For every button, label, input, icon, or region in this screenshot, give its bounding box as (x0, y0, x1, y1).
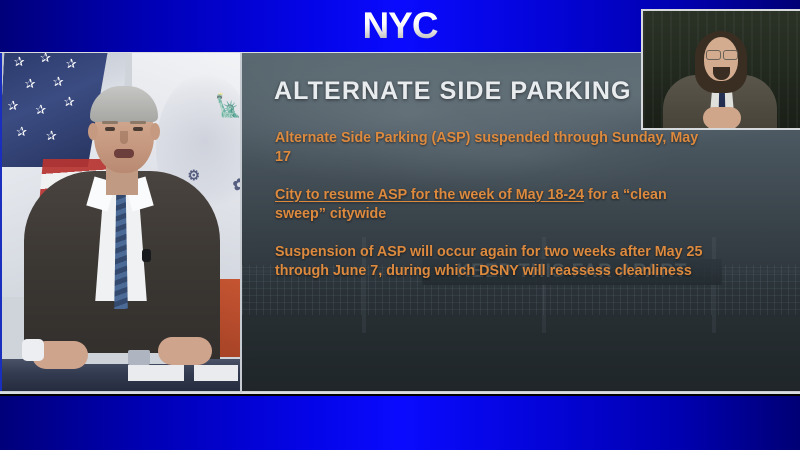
seal-eagle-icon: 🗽 (215, 93, 240, 119)
flag-star-icon: ✰ (52, 75, 64, 88)
speaker-ear-left (88, 123, 98, 140)
seal-windmill-icon: ⚙ (187, 167, 200, 184)
slide-bullet-3: Suspension of ASP will occur again for t… (275, 243, 707, 281)
bottom-banner-hairline (0, 392, 800, 394)
interpreter-hands (703, 107, 741, 129)
speaker-eye-left (105, 127, 115, 131)
lapel-microphone-icon (142, 249, 151, 262)
sign-language-interpreter-pip (641, 9, 800, 130)
flag-star-icon: ✰ (40, 53, 52, 64)
speaker-brow-right (130, 121, 146, 124)
podium-video-panel: ✰ ✰ ✰ ✰ ✰ ✰ ✰ ✰ ✰ ✰ 🗽 ⚙ ✿ (2, 53, 240, 393)
desk-paper (128, 365, 184, 381)
slide-bullet-1: Alternate Side Parking (ASP) suspended t… (275, 129, 707, 167)
flag-star-icon: ✰ (16, 125, 28, 138)
flag-star-icon: ✰ (46, 129, 58, 142)
seal-laurel-icon: ✿ (233, 175, 240, 195)
desk-paper (194, 365, 238, 381)
desk-binder-clip (128, 350, 150, 365)
speaker-brow-left (102, 121, 118, 124)
slide-bullet-2: City to resume ASP for the week of May 1… (275, 186, 707, 224)
flag-star-icon: ✰ (35, 103, 47, 116)
slide-bullet-2-underlined: City to resume ASP for the week of May 1… (275, 187, 584, 203)
interpreter-glasses-left (706, 50, 721, 60)
flag-star-icon: ✰ (7, 99, 19, 112)
flag-star-icon: ✰ (24, 77, 36, 90)
bottom-banner (0, 396, 800, 450)
speaker-nose (120, 131, 128, 144)
speaker-eye-right (133, 127, 143, 131)
speaker-mouth (114, 149, 134, 158)
flag-star-icon: ✰ (13, 55, 25, 68)
speaker-hand-right (158, 337, 212, 365)
speaker-cuff-left (22, 339, 44, 361)
speaker-ear-right (150, 123, 160, 140)
flag-star-icon: ✰ (65, 57, 77, 70)
slide-title: ALTERNATE SIDE PARKING (274, 77, 632, 106)
slide-bullet-list: Alternate Side Parking (ASP) suspended t… (275, 129, 707, 281)
broadcast-screen: NYC ✰ ✰ ✰ ✰ ✰ ✰ ✰ ✰ ✰ ✰ (0, 0, 800, 450)
flag-star-icon: ✰ (63, 95, 75, 108)
interpreter-glasses-right (723, 50, 738, 60)
panel-divider (240, 53, 242, 393)
